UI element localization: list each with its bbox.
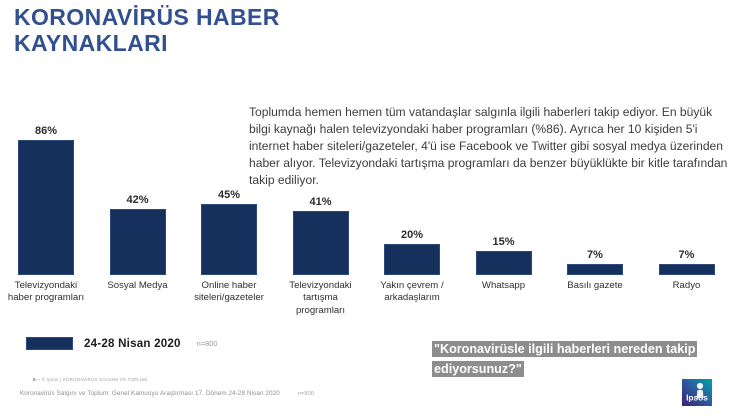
bar-chart: 86%Televizyondaki haber programları42%So… [0,118,740,323]
bar-rect [201,204,257,275]
question-text: "Koronavirüsle ilgili haberleri nereden … [432,341,697,377]
chart-legend: 24-28 Nisan 2020 n=800 [26,337,217,350]
bar-category-label: Whatsapp [460,280,548,292]
bar-rect [476,251,532,275]
bar-column: 7%Radyo [643,250,731,275]
bar-rect [110,209,166,275]
question-callout: "Koronavirüsle ilgili haberleri nereden … [432,340,720,379]
bar-value-label: 42% [94,195,182,206]
footer-source-line: 5— © Ipsos | KORONAVİRÜS SALGINI VS TOPL… [33,377,147,382]
bar-column: 41%Televizyondaki tartışma programları [277,197,365,275]
bar-column: 7%Basılı gazete [551,250,639,275]
legend-swatch [26,337,73,350]
bar-column: 42%Sosyal Medya [94,195,182,275]
footer-study-line: Koronavirüs Salgını ve Toplum: Genel Kam… [20,390,314,397]
bar-category-label: Radyo [643,280,731,292]
bar-category-label: Basılı gazete [551,280,639,292]
page-title: KORONAVİRÜS HABER KAYNAKLARI [14,4,434,56]
bar-category-label: Televizyondaki haber programları [2,280,90,305]
footer-study-text: Koronavirüs Salgını ve Toplum: Genel Kam… [20,390,280,397]
bar-rect [293,211,349,275]
bar-column: 20%Yakın çevrem / arkadaşlarım [368,230,456,275]
bar-category-label: Televizyondaki tartışma programları [277,280,365,317]
bar-rect [567,264,623,275]
bar-value-label: 15% [460,237,548,248]
bar-rect [384,244,440,275]
svg-text:Ipsos: Ipsos [686,393,708,403]
ipsos-logo: Ipsos [681,379,715,409]
bar-value-label: 20% [368,230,456,241]
bar-rect [18,140,74,275]
footer-source-text: — © Ipsos | KORONAVİRÜS SALGINI VS TOPLU… [36,377,148,382]
bar-column: 45%Online haber siteleri/gazeteler [185,190,273,275]
bar-column: 86%Televizyondaki haber programları [2,126,90,275]
bar-category-label: Sosyal Medya [94,280,182,292]
legend-label: 24-28 Nisan 2020 [84,337,181,350]
footer-sample-size: n=800 [298,391,314,397]
bar-rect [659,264,715,275]
bar-value-label: 41% [277,197,365,208]
bar-value-label: 45% [185,190,273,201]
legend-sample-size: n=800 [197,339,218,348]
bar-value-label: 7% [551,250,639,261]
bar-column: 15%Whatsapp [460,237,548,275]
bar-category-label: Online haber siteleri/gazeteler [185,280,273,305]
bar-category-label: Yakın çevrem / arkadaşlarım [368,280,456,305]
bar-value-label: 7% [643,250,731,261]
bar-value-label: 86% [2,126,90,137]
